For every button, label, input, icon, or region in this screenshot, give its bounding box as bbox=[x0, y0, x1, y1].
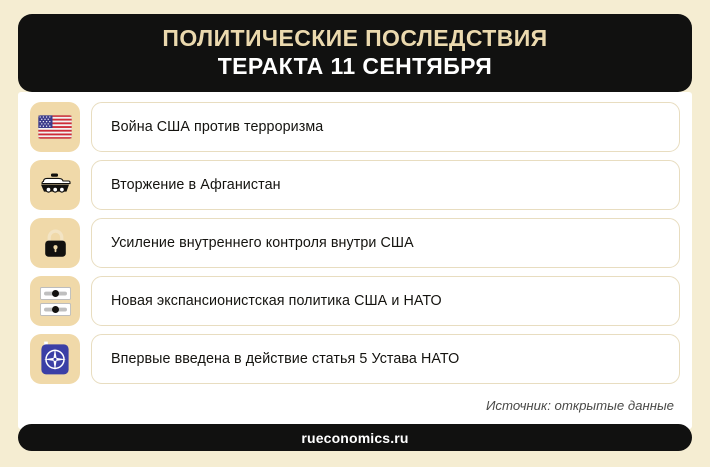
padlock-icon bbox=[42, 228, 69, 259]
tank-icon bbox=[37, 172, 73, 198]
list-item: Новая экспансионистская политика США и Н… bbox=[30, 276, 680, 326]
consequences-list: Война США против терроризма Вто bbox=[30, 102, 680, 392]
site-url[interactable]: rueconomics.ru bbox=[301, 430, 408, 446]
list-item: Война США против терроризма bbox=[30, 102, 680, 152]
list-item: Вторжение в Афганистан bbox=[30, 160, 680, 210]
icon-tile bbox=[30, 334, 80, 384]
item-pill[interactable]: Вторжение в Афганистан bbox=[91, 160, 680, 210]
icon-tile bbox=[30, 218, 80, 268]
item-label: Впервые введена в действие статья 5 Уста… bbox=[111, 351, 459, 367]
item-pill[interactable]: Война США против терроризма bbox=[91, 102, 680, 152]
us-flag-icon bbox=[38, 115, 72, 139]
item-pill[interactable]: Усиление внутреннего контроля внутри США bbox=[91, 218, 680, 268]
title-line-1: ПОЛИТИЧЕСКИЕ ПОСЛЕДСТВИЯ bbox=[162, 26, 547, 52]
list-item: Впервые введена в действие статья 5 Уста… bbox=[30, 334, 680, 384]
list-item: Усиление внутреннего контроля внутри США bbox=[30, 218, 680, 268]
infographic-root: ПОЛИТИЧЕСКИЕ ПОСЛЕДСТВИЯ ТЕРАКТА 11 СЕНТ… bbox=[0, 0, 710, 467]
item-pill[interactable]: Новая экспансионистская политика США и Н… bbox=[91, 276, 680, 326]
footer-bar: rueconomics.ru bbox=[18, 424, 692, 451]
title-line-2: ТЕРАКТА 11 СЕНТЯБРЯ bbox=[218, 54, 493, 80]
source-note: Источник: открытые данные bbox=[486, 398, 674, 413]
title-bar: ПОЛИТИЧЕСКИЕ ПОСЛЕДСТВИЯ ТЕРАКТА 11 СЕНТ… bbox=[18, 14, 692, 92]
item-label: Вторжение в Афганистан bbox=[111, 177, 281, 193]
icon-tile bbox=[30, 102, 80, 152]
item-pill[interactable]: Впервые введена в действие статья 5 Уста… bbox=[91, 334, 680, 384]
nato-emblem-icon bbox=[38, 341, 72, 377]
item-label: Война США против терроризма bbox=[111, 119, 323, 135]
icon-tile bbox=[30, 160, 80, 210]
item-label: Новая экспансионистская политика США и Н… bbox=[111, 293, 442, 309]
icon-tile bbox=[30, 276, 80, 326]
item-label: Усиление внутреннего контроля внутри США bbox=[111, 235, 414, 251]
sliders-icon bbox=[39, 285, 72, 318]
